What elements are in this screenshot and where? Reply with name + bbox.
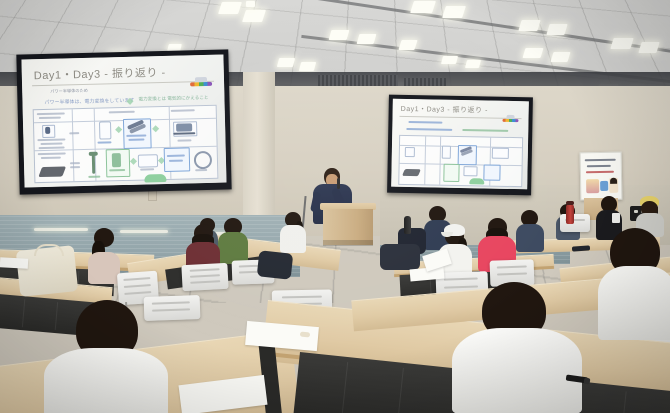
slide-right-subline	[406, 128, 452, 131]
slide-row-label	[69, 132, 79, 134]
student-navy-right	[516, 210, 544, 252]
torso	[452, 328, 582, 413]
slide-right-subline	[462, 129, 508, 132]
slide-cell-label	[140, 168, 154, 170]
projection-screen-left: Day1・Day3 - 振り返り - パワー半導体のため パワー半導体は、電力変…	[21, 55, 226, 188]
ceiling-light	[546, 24, 567, 35]
ceiling-light	[465, 60, 481, 68]
poster-illustration-center	[600, 181, 608, 191]
poster-illustration-left	[586, 179, 599, 193]
poster-board	[580, 152, 623, 201]
slide-left-sub3: 電力変換とは 電気的にかえること	[138, 95, 208, 103]
ceiling-light	[610, 38, 633, 49]
car-icon	[469, 178, 484, 184]
student-rear-white	[280, 212, 306, 252]
wall-strip-light	[34, 228, 88, 231]
slide-cell-icon	[99, 121, 111, 139]
slide-row-label	[70, 166, 80, 168]
projection-screen-right-frame: Day1・Day3 - 振り返り -	[387, 95, 533, 196]
slide-cell-icon	[405, 147, 415, 157]
wall-outlet	[148, 190, 157, 201]
torso	[88, 252, 120, 284]
slide-logo-icon	[502, 119, 518, 122]
projection-screen-left-frame: Day1・Day3 - 振り返り - パワー半導体のため パワー半導体は、電力変…	[16, 49, 231, 194]
slide-cell-label	[88, 176, 100, 178]
slide-cell-label	[128, 139, 144, 141]
eraser	[300, 332, 310, 338]
slide-cell-icon	[483, 164, 500, 180]
student-white-front-left	[44, 300, 168, 413]
ceiling-light	[242, 10, 266, 22]
torso	[218, 232, 248, 264]
slide-cell-icon	[138, 154, 158, 167]
ceiling-light	[329, 30, 350, 40]
cup-white	[612, 213, 620, 223]
torso	[280, 225, 306, 253]
poster-text-line	[587, 165, 611, 167]
bag-handle	[34, 244, 64, 256]
car-icon	[144, 174, 166, 183]
student-white-front-right	[452, 282, 582, 413]
module-icon	[402, 169, 421, 176]
laptop-icon	[176, 123, 192, 131]
chair	[560, 214, 590, 232]
poster-text-line	[585, 159, 616, 162]
slide-logo-cap-icon	[195, 77, 207, 82]
slide-right-subline	[408, 121, 442, 124]
slide-cell-icon	[463, 166, 477, 176]
module-icon	[38, 166, 66, 177]
thermos-cap	[566, 201, 574, 205]
wall-strip-light	[120, 230, 168, 233]
student-ponytail-left	[86, 228, 120, 282]
student-white-right-edge	[598, 228, 670, 348]
ceiling-light	[550, 52, 570, 62]
ceiling-light	[299, 62, 316, 71]
poster-text-line	[586, 171, 614, 173]
slide-logo-icon	[190, 82, 212, 87]
backpack-dark-right	[257, 250, 294, 279]
slide-left: Day1・Day3 - 振り返り - パワー半導体のため パワー半導体は、電力変…	[21, 55, 226, 188]
chip-icon	[45, 127, 50, 134]
slide-cell-label	[195, 169, 207, 171]
wall-pillar	[243, 72, 275, 237]
chair	[181, 263, 228, 291]
ceiling-light	[357, 34, 377, 44]
student-green	[218, 218, 248, 264]
ceiling-light	[522, 48, 543, 58]
thermos-bottle-black	[404, 216, 411, 234]
charge-station-icon	[112, 153, 121, 167]
thermos-bottle-red	[566, 204, 574, 224]
slide-cell-icon	[442, 146, 451, 159]
ceiling-light	[218, 2, 242, 14]
slide-right-title: Day1・Day3 - 振り返り -	[401, 104, 488, 116]
ceiling-light	[441, 56, 458, 64]
slide-left-sub2: パワー半導体は、電力変換をしています	[44, 97, 134, 106]
ceiling-light	[277, 58, 295, 67]
ceiling-light	[442, 6, 466, 18]
slide-logo-cap-icon	[507, 115, 515, 119]
torso	[516, 224, 544, 252]
podium-shadow	[323, 240, 373, 246]
projection-screen-right: Day1・Day3 - 振り返り -	[391, 99, 529, 190]
slide-left-sub1: パワー半導体のため	[50, 88, 88, 95]
microphone-icon	[337, 178, 340, 189]
torso	[44, 348, 168, 413]
ceiling-light	[246, 1, 255, 7]
slide-cell-label	[177, 139, 191, 141]
slide-right: Day1・Day3 - 振り返り -	[391, 99, 529, 190]
slide-cell-icon	[443, 164, 459, 182]
torso	[598, 266, 670, 340]
slide-cell-label	[109, 169, 125, 171]
ceiling-light	[638, 42, 659, 53]
handout-paper-left	[0, 257, 28, 268]
slide-cell-label	[169, 160, 183, 162]
charger-head-icon	[89, 152, 98, 156]
charger-post-icon	[92, 154, 95, 174]
backpack-dark-mid	[380, 244, 420, 270]
ceiling-light	[398, 40, 417, 50]
poster-character-head-icon	[610, 178, 617, 184]
ceiling-light	[410, 1, 436, 13]
slide-cell-label	[97, 141, 111, 143]
marker-pen-cap	[584, 378, 591, 385]
classroom-photo: Day1・Day3 - 振り返り - パワー半導体のため パワー半導体は、電力変…	[0, 0, 670, 413]
ceiling-light	[518, 20, 540, 31]
slide-row-label	[70, 162, 80, 164]
slide-cell-icon	[492, 148, 509, 159]
slide-left-title: Day1・Day3 - 振り返り -	[34, 64, 166, 83]
